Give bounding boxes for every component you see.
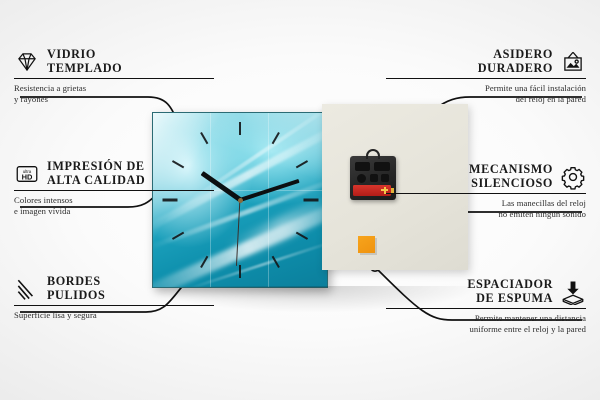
feature-title-2: DURADERO xyxy=(478,62,553,76)
feature-title-2: SILENCIOSO xyxy=(469,177,553,191)
feature-title-2: TEMPLADO xyxy=(47,62,122,76)
feature-subtitle-2: uniforme entre el reloj y la pared xyxy=(386,324,586,335)
feature-hanger: ASIDERO DURADERO Permite una fácil insta… xyxy=(386,48,586,106)
feature-subtitle: Colores intensos xyxy=(14,195,214,206)
feature-title-2: ALTA CALIDAD xyxy=(47,174,145,188)
feature-subtitle: Las manecillas del reloj xyxy=(386,198,586,209)
diamond-icon xyxy=(14,49,40,75)
feature-subtitle: Permite mantener una distancia xyxy=(386,313,586,324)
feature-title: ASIDERO xyxy=(478,48,553,62)
feature-edges: BORDES PULIDOS Superficie lisa y segura xyxy=(14,275,214,321)
feature-title: BORDES xyxy=(47,275,105,289)
feature-subtitle-2: y rayones xyxy=(14,94,214,105)
infographic-stage: VIDRIO TEMPLADO Resistencia a grietas y … xyxy=(0,0,600,400)
feature-mechanism: MECANISMO SILENCIOSO Las manecillas del … xyxy=(386,163,586,221)
divider xyxy=(386,308,586,309)
polished-edges-icon xyxy=(14,276,40,302)
feature-foam: ESPACIADOR DE ESPUMA Permite mantener un… xyxy=(386,278,586,336)
feature-subtitle-2: del reloj en la pared xyxy=(386,94,586,105)
feature-title: MECANISMO xyxy=(469,163,553,177)
feature-print: ultra HD IMPRESIÓN DE ALTA CALIDAD Color… xyxy=(14,160,214,218)
feature-title: ESPACIADOR xyxy=(467,278,553,292)
clock-pivot xyxy=(238,198,243,203)
divider xyxy=(386,78,586,79)
divider xyxy=(386,193,586,194)
feature-subtitle: Superficie lisa y segura xyxy=(14,310,214,321)
divider xyxy=(14,190,214,191)
feature-subtitle: Resistencia a grietas xyxy=(14,83,214,94)
feature-subtitle: Permite una fácil instalación xyxy=(386,83,586,94)
feature-title: VIDRIO xyxy=(47,48,122,62)
ultra-hd-badge-icon: ultra HD xyxy=(14,161,40,187)
svg-text:HD: HD xyxy=(22,172,33,181)
divider xyxy=(14,78,214,79)
feature-glass: VIDRIO TEMPLADO Resistencia a grietas y … xyxy=(14,48,214,106)
divider xyxy=(14,305,214,306)
foam-spacer-arrow-icon xyxy=(560,279,586,305)
feature-title-2: PULIDOS xyxy=(47,289,105,303)
wall-hanging-frame-icon xyxy=(560,49,586,75)
feature-title: IMPRESIÓN DE xyxy=(47,160,145,174)
feature-subtitle-2: no emiten ningún sonido xyxy=(386,209,586,220)
feature-title-2: DE ESPUMA xyxy=(467,292,553,306)
hanger-hook xyxy=(366,149,380,159)
feature-subtitle-2: e imagen vívida xyxy=(14,206,214,217)
foam-spacer-pad xyxy=(358,236,375,253)
gear-icon xyxy=(560,164,586,190)
